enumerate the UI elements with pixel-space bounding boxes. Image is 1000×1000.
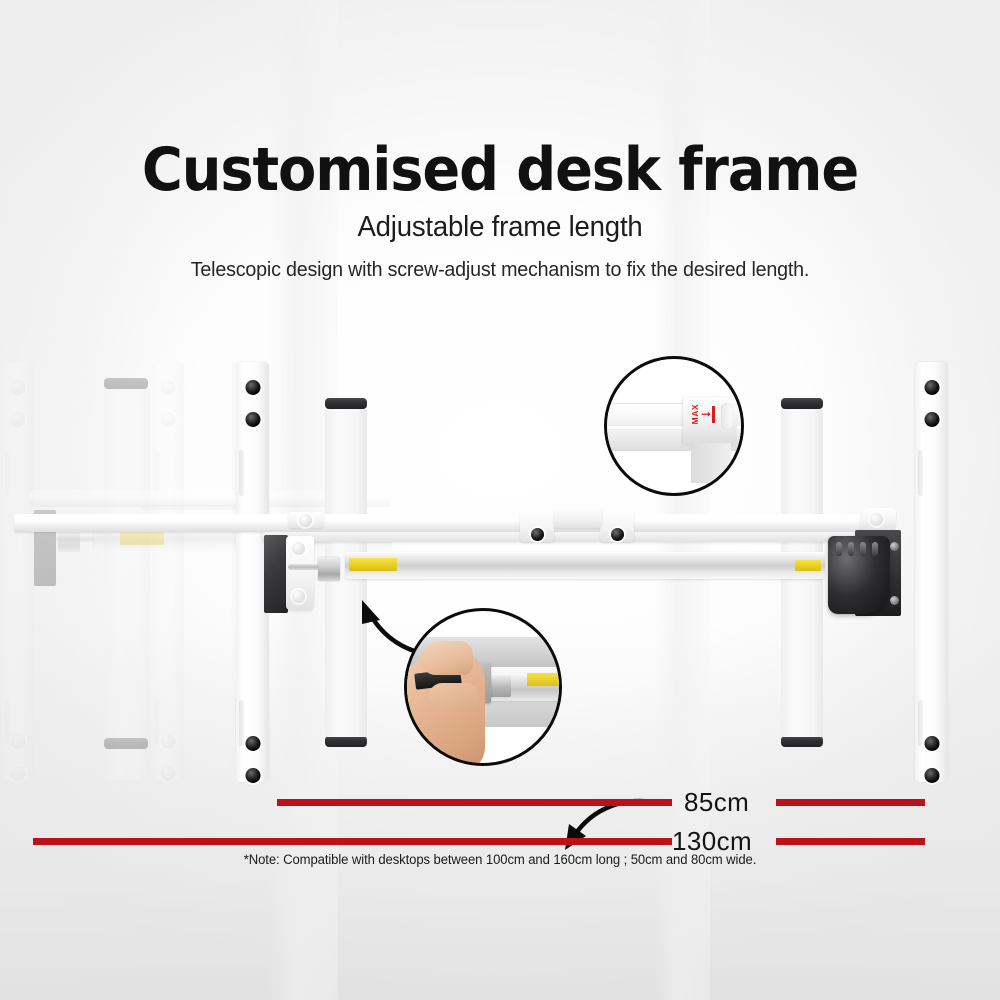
header-block: Customised desk frame Adjustable frame l…	[0, 140, 1000, 282]
compatibility-note: *Note: Compatible with desktops between …	[15, 852, 985, 867]
dimension-line-130-right	[776, 838, 925, 845]
mount-plate-centre-top	[554, 506, 602, 528]
product-infographic: Customised desk frame Adjustable frame l…	[0, 0, 1000, 1000]
thumb	[421, 641, 473, 675]
desk-leg-ghost-2	[152, 362, 184, 780]
callout-screw-adjust-mechanism	[404, 608, 562, 766]
foot-pad-top-right	[781, 398, 823, 409]
mount-plate-centre-left	[520, 510, 554, 542]
callout-caution-sticker	[527, 673, 562, 686]
page-tagline: Telescopic design with screw-adjust mech…	[20, 258, 980, 282]
dimension-label-85: 85cm	[684, 787, 749, 818]
caution-sticker-glyph	[349, 558, 397, 571]
motor-housing	[828, 536, 890, 614]
max-marker-label: MAX	[690, 404, 700, 424]
desk-leg-right	[915, 362, 948, 782]
max-limit-bar	[712, 406, 715, 423]
dimension-line-85-right	[776, 799, 925, 806]
mount-plate-left	[288, 512, 324, 528]
page-title: Customised desk frame	[35, 140, 965, 201]
max-marker: MAX ➞	[690, 403, 715, 425]
pointer-arrow-top	[556, 792, 656, 858]
foot-pad-ghost-bottom	[104, 738, 148, 749]
mount-plate-right	[860, 508, 896, 530]
foot-pad-bottom-left	[325, 736, 367, 747]
foot-pad-top-left	[325, 398, 367, 409]
callout-end-cap-leg	[691, 443, 731, 483]
bracket-face-left	[286, 536, 314, 610]
frame-beam-shadow	[262, 532, 884, 542]
motor-screw-bottom	[890, 596, 899, 605]
caution-sticker-ghost	[120, 532, 164, 545]
caution-sticker	[349, 558, 397, 571]
caution-sticker-right	[795, 560, 821, 571]
callout-end-cap-tab	[721, 403, 733, 429]
callout-max-extension-marker: MAX ➞	[604, 356, 744, 496]
telescopic-tube	[345, 552, 825, 579]
foot-pad-bottom-right	[781, 736, 823, 747]
max-arrow-icon: ➞	[701, 408, 711, 420]
motor-screw-top	[890, 542, 899, 551]
foot-pad-ghost-top	[104, 378, 148, 389]
page-subtitle: Adjustable frame length	[25, 211, 975, 244]
adjust-nut	[318, 557, 340, 581]
desk-leg-ghost-1	[2, 362, 34, 780]
end-bracket-left	[264, 535, 288, 613]
frame-beam-main	[14, 514, 894, 532]
desk-column-ghost-1	[104, 388, 150, 780]
mount-plate-centre-right	[600, 510, 634, 542]
finger	[429, 683, 479, 709]
